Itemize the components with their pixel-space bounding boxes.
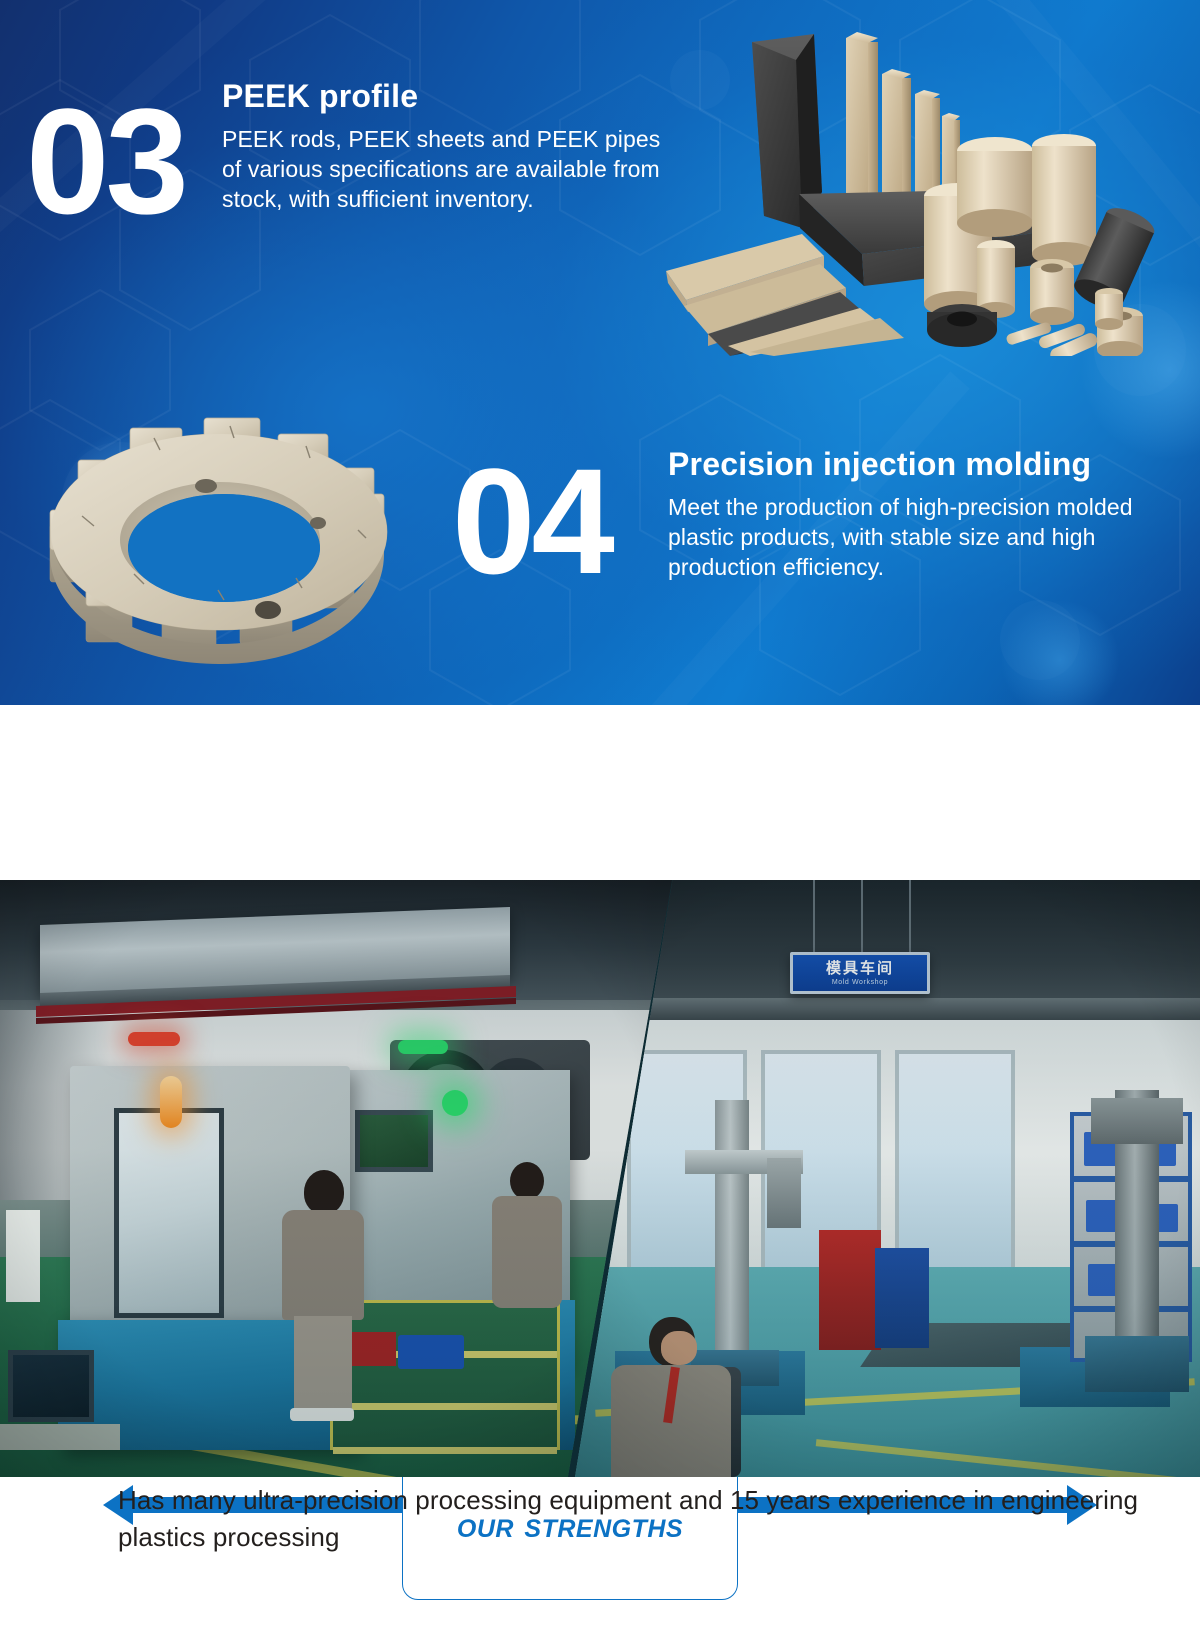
our-strengths-banner: Our strengths <box>0 705 1200 880</box>
mold-workshop-sign-cn: 模具车间 <box>826 961 894 976</box>
footer-caption-text: Has many ultra-precision processing equi… <box>118 1482 1140 1556</box>
hero-blue-panel: 03 PEEK profile PEEK rods, PEEK sheets a… <box>0 0 1200 705</box>
footer-caption: Has many ultra-precision processing equi… <box>0 1482 1200 1602</box>
mold-workshop-sign: 模具车间 Mold Workshop <box>790 952 930 994</box>
peek-profile-products-photo <box>624 16 1184 356</box>
block-number-03: 03 <box>26 92 185 230</box>
factory-photo-strip: 模具车间 Mold Workshop <box>0 880 1200 1477</box>
mold-workshop-photo: 模具车间 Mold Workshop <box>575 880 1200 1477</box>
cnc-machining-workshop-photo <box>0 880 672 1477</box>
block-title-peek-profile: PEEK profile <box>222 78 662 116</box>
hero-block-04: 04 Precision injection molding Meet the … <box>452 440 1172 670</box>
peek-molded-gear-ring-photo <box>34 398 404 688</box>
block-number-04: 04 <box>452 452 611 590</box>
block-title-precision-injection-molding: Precision injection molding <box>668 446 1168 484</box>
mold-workshop-sign-en: Mold Workshop <box>832 979 888 986</box>
promo-page: 03 PEEK profile PEEK rods, PEEK sheets a… <box>0 0 1200 1640</box>
block-body-precision-injection-molding: Meet the production of high-precision mo… <box>668 493 1168 583</box>
hero-block-03: 03 PEEK profile PEEK rods, PEEK sheets a… <box>26 78 666 338</box>
block-body-peek-profile: PEEK rods, PEEK sheets and PEEK pipes of… <box>222 125 662 215</box>
